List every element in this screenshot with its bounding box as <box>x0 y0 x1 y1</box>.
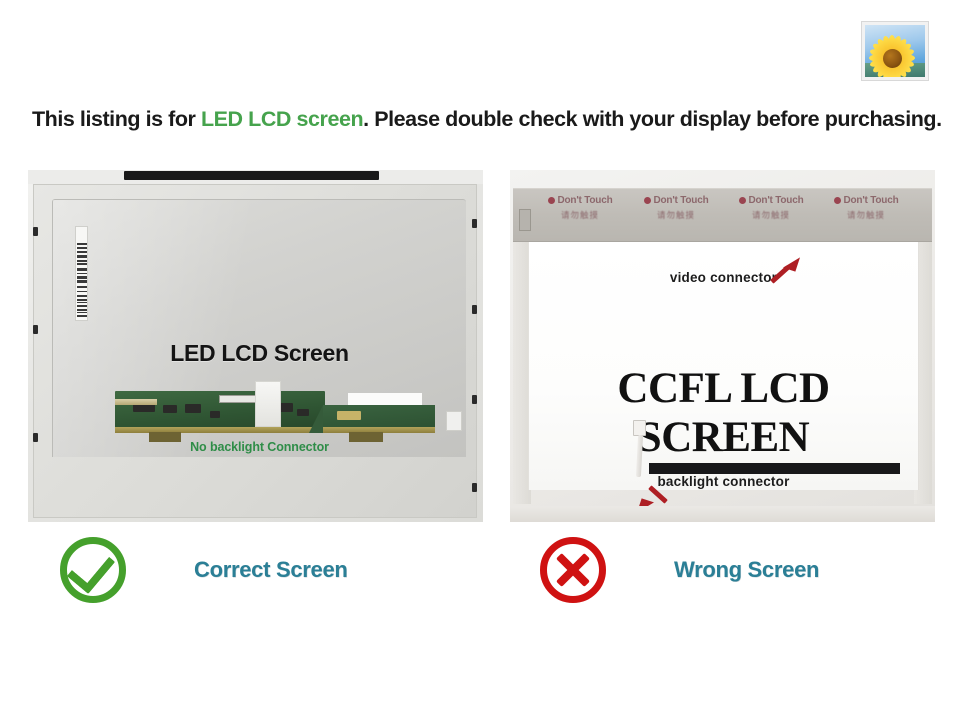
barcode-bar <box>77 260 87 262</box>
barcode-bar <box>77 299 87 301</box>
barcode-bar <box>77 312 87 313</box>
side-mount-notch <box>33 433 38 442</box>
headline-prefix: This listing is for <box>32 107 201 131</box>
ccfl-bottom-lip <box>510 506 935 522</box>
barcode-bar <box>77 243 87 245</box>
dont-touch-text-cn: 请勿触摸 <box>821 209 911 221</box>
barcode-label <box>75 226 88 321</box>
dont-touch-text: Don't Touch <box>726 195 816 206</box>
backlight-connector-wire <box>633 420 647 476</box>
sunflower-icon <box>869 35 915 80</box>
pcb-main-board <box>115 391 325 433</box>
led-driver-pcb <box>115 391 433 433</box>
wrong-screen-label: Wrong Screen <box>674 557 819 583</box>
side-mount-notch <box>33 227 38 236</box>
thumbnail-frame <box>862 22 928 80</box>
pcb-mount-foot <box>349 432 383 442</box>
dont-touch-warning: Don't Touch请勿触摸 <box>535 195 625 221</box>
warning-dot-icon <box>834 197 841 204</box>
barcode-bar <box>77 302 87 303</box>
green-check-circle-icon <box>60 537 126 603</box>
dont-touch-warning: Don't Touch请勿触摸 <box>726 195 816 221</box>
barcode-bar <box>77 251 87 253</box>
dont-touch-text: Don't Touch <box>535 195 625 206</box>
led-screen-caption: LED LCD Screen <box>53 340 466 367</box>
side-mount-notch <box>472 395 477 404</box>
dont-touch-warning: Don't Touch请勿触摸 <box>821 195 911 221</box>
led-panel-display-surface: LED LCD Screen No backlight Connector <box>52 199 466 457</box>
barcode-bar <box>77 291 87 292</box>
barcode-bar <box>77 255 87 258</box>
sunflower-thumbnail <box>862 22 928 80</box>
white-insulation-tape <box>255 381 281 427</box>
side-mount-notch <box>33 325 38 334</box>
led-panel-bezel: LED LCD Screen No backlight Connector <box>33 184 477 518</box>
barcode-bar <box>77 280 87 283</box>
right-edge-tab <box>446 411 462 431</box>
pcb-flex-ribbon <box>115 399 157 405</box>
dont-touch-text-cn: 请勿触摸 <box>631 209 721 221</box>
barcode-bar <box>77 268 87 271</box>
warning-dot-icon <box>548 197 555 204</box>
pcb-chip <box>163 405 177 413</box>
page-headline: This listing is for LED LCD screen. Plea… <box>32 107 937 132</box>
headline-highlight: LED LCD screen <box>201 107 363 131</box>
film-corner-clip <box>519 209 531 231</box>
backlight-connector-plug <box>633 420 646 436</box>
video-connector-label: video connector <box>529 270 918 285</box>
pcb-chip <box>210 411 220 418</box>
ccfl-bottom-black-strip <box>649 463 900 474</box>
led-panel-top-black-strip <box>124 171 379 180</box>
ccfl-screen-title: CCFL LCD SCREEN <box>529 364 918 462</box>
led-panel-body: LED LCD Screen No backlight Connector <box>28 170 483 522</box>
barcode-bar <box>77 247 87 249</box>
pcb-gold-fingers <box>115 427 325 433</box>
pcb-mount-foot <box>149 432 181 442</box>
backlight-connector-label: backlight connector <box>529 474 918 489</box>
barcode-bar <box>77 309 87 311</box>
barcode-bar <box>77 295 87 297</box>
barcode-bar <box>77 273 87 274</box>
video-connector-arrow <box>767 256 801 286</box>
barcode-bar <box>77 305 87 307</box>
dont-touch-protective-film: Don't Touch请勿触摸Don't Touch请勿触摸Don't Touc… <box>513 188 932 242</box>
warning-dot-icon <box>644 197 651 204</box>
barcode-bar <box>77 263 87 265</box>
warning-dot-icon <box>739 197 746 204</box>
sunflower-core <box>883 49 902 68</box>
headline-suffix: . Please double check with your display … <box>363 107 941 131</box>
correct-screen-label: Correct Screen <box>194 557 348 583</box>
dont-touch-text-cn: 请勿触摸 <box>726 209 816 221</box>
led-lcd-screen-image: LED LCD Screen No backlight Connector <box>28 170 483 522</box>
verdict-wrong: Wrong Screen <box>540 534 819 606</box>
pcb-chip <box>297 409 309 416</box>
ccfl-panel-body: Don't Touch请勿触摸Don't Touch请勿触摸Don't Touc… <box>510 170 935 522</box>
side-mount-notch <box>472 305 477 314</box>
backlight-cable <box>636 435 643 477</box>
barcode-bar <box>77 286 87 288</box>
pcb-tapered-section <box>323 405 435 433</box>
side-mount-notch <box>472 483 477 492</box>
dont-touch-text: Don't Touch <box>821 195 911 206</box>
verdict-correct: Correct Screen <box>60 534 348 606</box>
ccfl-lcd-screen-image: Don't Touch请勿触摸Don't Touch请勿触摸Don't Touc… <box>510 170 935 522</box>
barcode-bar <box>77 276 87 279</box>
red-cross-circle-icon <box>540 537 606 603</box>
dont-touch-text: Don't Touch <box>631 195 721 206</box>
dont-touch-warning: Don't Touch请勿触摸 <box>631 195 721 221</box>
dont-touch-text-cn: 请勿触摸 <box>535 209 625 221</box>
no-backlight-connector-note: No backlight Connector <box>53 440 466 454</box>
barcode-bar <box>77 315 87 317</box>
pcb-chip <box>185 404 201 413</box>
side-mount-notch <box>472 219 477 228</box>
ccfl-display-surface: video connector CCFL LCD SCREEN backligh… <box>528 242 919 490</box>
pcb-pad-array <box>337 411 361 420</box>
